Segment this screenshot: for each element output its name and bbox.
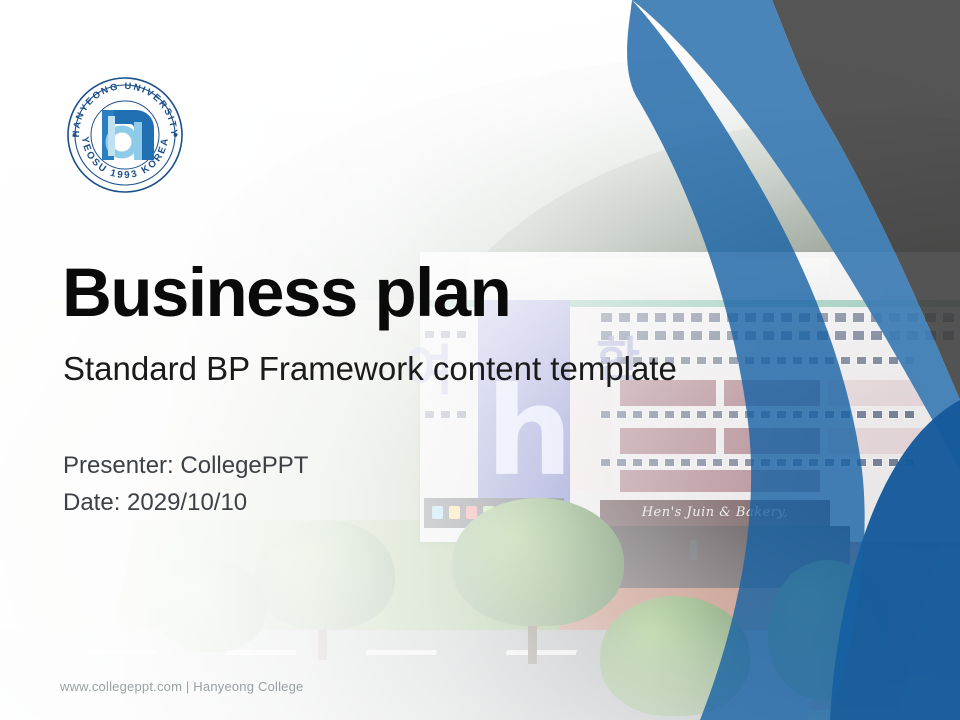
presentation-slide: h 여 한 Hen's Juin & Bakery, [0,0,960,720]
seal-dot-left [73,133,77,137]
seal-dot-right [174,133,178,137]
slide-footer: www.collegeppt.com | Hanyeong College [60,679,303,694]
slide-subtitle: Standard BP Framework content template [63,352,677,385]
presenter-line: Presenter: CollegePPT [63,447,308,484]
slide-title: Business plan [62,258,510,327]
hanyeong-university-logo: HANYEONG UNIVERSITY YEOSU 1993 KOREA [62,72,188,198]
date-line: Date: 2029/10/10 [63,484,308,521]
slide-meta: Presenter: CollegePPT Date: 2029/10/10 [63,447,308,521]
